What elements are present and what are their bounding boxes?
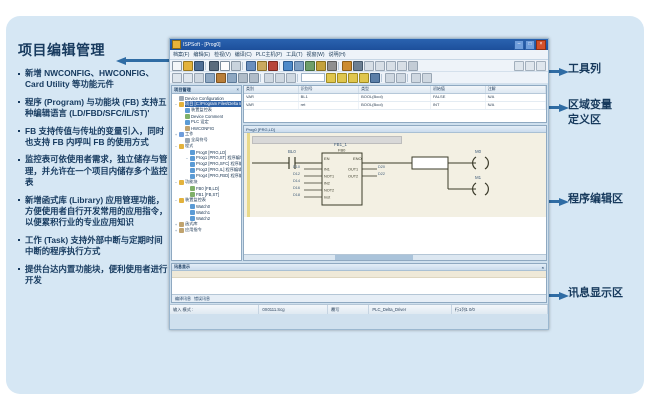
- menu-bar: 档案(F) 编辑(E) 检视(V) 编译(C) PLC主机(P) 工具(T) 视…: [170, 50, 548, 60]
- svg-text:Inst: Inst: [324, 196, 331, 200]
- rising-edge-icon[interactable]: [216, 73, 226, 83]
- window-title: ISPSoft - [Prog0]: [183, 42, 512, 48]
- menu-item-help[interactable]: 说明(H): [329, 51, 346, 58]
- program-editor-tab[interactable]: Prog0 [PRG,LD]: [244, 126, 546, 133]
- symbol-icon: [185, 138, 190, 143]
- library-folder-icon: [179, 222, 184, 227]
- project-tree-title: 项目管理: [174, 87, 191, 93]
- close-button[interactable]: ×: [536, 40, 546, 50]
- tree-toggle[interactable]: −: [174, 102, 178, 107]
- watch-folder-icon: [179, 198, 184, 203]
- comment-icon: [185, 114, 190, 119]
- close-icon[interactable]: ×: [542, 265, 544, 270]
- toolbar-row-1: [170, 60, 548, 72]
- tree-node-label: 功能块: [185, 179, 198, 185]
- program-editor-tab-label: Prog0 [PRG,LD]: [246, 127, 275, 132]
- svg-text:FB0: FB0: [338, 148, 346, 153]
- feature-text-block: 项目编辑管理 新增 NWCONFIG、HWCONFIG、Card Utility…: [18, 40, 168, 293]
- task-folder-icon: [179, 132, 184, 137]
- message-tabs: 编译讯息 错误讯息: [172, 294, 546, 302]
- cell-initial: FALSE: [431, 94, 486, 101]
- fb-ld-icon: [190, 186, 195, 191]
- callout-arrow-project-edit: [125, 57, 170, 64]
- variable-table-header: 类别 识别号 类型 初始值 注解: [244, 86, 546, 94]
- print-preview-icon[interactable]: [220, 61, 230, 71]
- block-compare-icon[interactable]: [348, 73, 358, 83]
- svg-text:ENO: ENO: [353, 156, 362, 161]
- status-cursor-position: 行1列1 0/0: [452, 305, 548, 314]
- inverse-coil-icon[interactable]: [205, 73, 215, 83]
- table-row[interactable]: VAR BL1 BOOL(Bool) FALSE N/A: [244, 94, 546, 102]
- tree-node-label: FB1 [FB,ST]: [196, 192, 219, 197]
- tree-node-label: Device Configuration: [185, 96, 224, 101]
- library-icon[interactable]: [422, 73, 432, 83]
- close-icon[interactable]: ×: [237, 87, 239, 92]
- message-panel-header: 讯息显示 ×: [172, 264, 546, 271]
- tree-toggle[interactable]: −: [174, 180, 178, 185]
- svg-text:D12: D12: [293, 172, 300, 176]
- cell-class: VAR: [244, 102, 299, 109]
- cell-comment: N/A: [486, 102, 546, 109]
- il-program-icon: [190, 168, 195, 173]
- zoom-out-icon[interactable]: [525, 61, 535, 71]
- contact-nc-icon[interactable]: [183, 73, 193, 83]
- tree-toggle[interactable]: −: [174, 144, 178, 149]
- download-icon[interactable]: [305, 61, 315, 71]
- menu-item-compile[interactable]: 编译(C): [235, 51, 252, 58]
- svg-text:D18: D18: [293, 193, 300, 197]
- status-input-mode: 输入 模式 :: [170, 305, 259, 314]
- tree-toggle[interactable]: −: [185, 156, 189, 161]
- zoom-in-icon[interactable]: [514, 61, 524, 71]
- program-folder-icon: [179, 144, 184, 149]
- block-counter-icon[interactable]: [370, 73, 380, 83]
- minimize-button[interactable]: –: [514, 40, 524, 50]
- monitor-table-icon: [185, 108, 190, 113]
- hwconfig-icon: [185, 126, 190, 131]
- tree-node-label: Watch1: [196, 210, 210, 215]
- screenshot-root: 项目编辑管理 新增 NWCONFIG、HWCONFIG、Card Utility…: [0, 0, 650, 405]
- feature-bullet: FB 支持传值与传址的变量引入，同时也支持 FB 内呼叫 FB 的使用方式: [18, 126, 168, 149]
- callout-label-toolbar: 工具列: [568, 62, 601, 76]
- ladder-logic-graphic: BL0 FB1_1 FB0 EN ENO: [244, 133, 546, 223]
- tree-node[interactable]: + 应用指令: [173, 227, 241, 233]
- tree-toggle[interactable]: −: [174, 198, 178, 203]
- work-area: 项目管理 × Device Configuration − 项目 [C:\Pro…: [170, 84, 548, 262]
- message-list[interactable]: [172, 278, 546, 294]
- column-header-type: 类型: [359, 86, 431, 93]
- callout-label-program-editor: 程序编辑区: [568, 192, 623, 206]
- window-controls: – □ ×: [514, 40, 546, 50]
- menu-item-window[interactable]: 视窗(W): [306, 51, 324, 58]
- undo-icon[interactable]: [268, 61, 278, 71]
- menu-item-edit[interactable]: 编辑(E): [193, 51, 210, 58]
- tree-toggle[interactable]: +: [174, 228, 178, 233]
- project-icon: [179, 102, 184, 107]
- grid-icon[interactable]: [397, 61, 407, 71]
- cell-initial: INT: [431, 102, 486, 109]
- table-row[interactable]: VAR ret BOOL(Bool) INT N/A: [244, 102, 546, 110]
- project-tree-panel: 项目管理 × Device Configuration − 项目 [C:\Pro…: [171, 85, 242, 261]
- svg-text:D14: D14: [293, 179, 300, 183]
- tree-node-label: Device Comment: [191, 114, 223, 119]
- title-bar: ISPSoft - [Prog0] – □ ×: [170, 39, 548, 50]
- feature-bullet-list: 新增 NWCONFIG、HWCONFIG、Card Utility 等功能元件 …: [18, 68, 168, 287]
- watch-table-icon: [190, 204, 195, 209]
- tab-compile-messages[interactable]: 编译讯息: [175, 296, 191, 302]
- menu-item-tools[interactable]: 工具(T): [286, 51, 302, 58]
- status-bar: 输入 模式 : 0X0111.Scg 覆写 PLC_Delta_Driver 行…: [170, 304, 548, 314]
- svg-text:M1: M1: [475, 175, 482, 180]
- insert-column-icon[interactable]: [275, 73, 285, 83]
- tab-error-messages[interactable]: 错误讯息: [194, 296, 210, 302]
- zoom-fit-icon[interactable]: [536, 61, 546, 71]
- compile-icon[interactable]: [294, 61, 304, 71]
- monitor-stop-icon[interactable]: [396, 73, 406, 83]
- cell-identifier: ret: [299, 102, 359, 109]
- run-icon[interactable]: [327, 61, 337, 71]
- network-icon[interactable]: [386, 61, 396, 71]
- watch-table-icon: [190, 216, 195, 221]
- svg-text:OUT2: OUT2: [348, 175, 358, 179]
- cell-type: BOOL(Bool): [359, 94, 431, 101]
- scrollbar-thumb[interactable]: [335, 255, 414, 260]
- menu-item-file[interactable]: 档案(F): [173, 51, 189, 58]
- insert-row-icon[interactable]: [264, 73, 274, 83]
- column-header-initial: 初始值: [431, 86, 486, 93]
- callout-label-variable-area-line2: 定义区: [568, 113, 601, 127]
- svg-text:IN1: IN1: [324, 168, 330, 172]
- tree-node-label: 装置监控表: [185, 197, 206, 203]
- copy-icon[interactable]: [246, 61, 256, 71]
- redo-icon[interactable]: [283, 61, 293, 71]
- tree-node-label: PLC 设定: [191, 119, 209, 125]
- monitor-icon[interactable]: [353, 61, 363, 71]
- program-editor-panel: Prog0 [PRG,LD] BL0: [243, 125, 547, 261]
- tree-node-label: 全局符号: [191, 137, 208, 143]
- monitor-start-icon[interactable]: [385, 73, 395, 83]
- svg-text:NOT2: NOT2: [324, 189, 334, 193]
- tree-node-label: Prog4 [PRG,FBD] 程序编辑: [196, 173, 241, 179]
- cut-icon[interactable]: [231, 61, 241, 71]
- save-icon[interactable]: [194, 61, 204, 71]
- st-program-icon: [190, 156, 195, 161]
- message-panel: 讯息显示 × 编译讯息 错误讯息: [171, 263, 547, 303]
- device-icon: [179, 96, 184, 101]
- feature-bullet: 程序 (Program) 与功能块 (FB) 支持五种编辑语言 (LD/FBD/…: [18, 97, 168, 120]
- svg-text:M0: M0: [475, 149, 482, 154]
- block-io-icon[interactable]: [337, 73, 347, 83]
- tree-node-label: Watch2: [196, 216, 210, 221]
- zoom-level-combo[interactable]: [301, 73, 325, 82]
- svg-text:EN: EN: [324, 156, 330, 161]
- svg-text:D20: D20: [378, 165, 385, 169]
- application-icon: [172, 40, 181, 49]
- svg-text:NOT1: NOT1: [324, 175, 334, 179]
- find-icon[interactable]: [364, 61, 374, 71]
- horizontal-scrollbar[interactable]: [244, 254, 546, 260]
- replace-icon[interactable]: [375, 61, 385, 71]
- vertical-line-icon[interactable]: [238, 73, 248, 83]
- upload-icon[interactable]: [316, 61, 326, 71]
- svg-text:IN2: IN2: [324, 182, 330, 186]
- menu-item-view[interactable]: 检视(V): [214, 51, 231, 58]
- message-panel-title: 讯息显示: [174, 264, 190, 270]
- status-scan-time: 0X0111.Scg: [259, 305, 328, 314]
- delete-network-icon[interactable]: [286, 73, 296, 83]
- svg-text:D10: D10: [293, 165, 300, 169]
- tree-node-label: Prog0 [PRG,LD]: [196, 150, 226, 155]
- block-icon[interactable]: [326, 73, 336, 83]
- tree-node-label: 应用指令: [185, 227, 202, 233]
- fb-folder-icon: [179, 180, 184, 185]
- fb-st-icon: [190, 192, 195, 197]
- feature-bullet: 新增函式库 (Library) 应用管理功能，方便使用者自行开发常用的应用指令，…: [18, 195, 168, 229]
- message-highlight-band: [172, 271, 546, 278]
- tree-toggle[interactable]: +: [174, 222, 178, 227]
- callout-label-message-area: 讯息显示区: [568, 286, 623, 300]
- tree-node-label: 程式: [185, 143, 193, 149]
- svg-text:D16: D16: [293, 186, 300, 190]
- falling-edge-icon[interactable]: [227, 73, 237, 83]
- ld-program-icon: [190, 150, 195, 155]
- menu-item-plc[interactable]: PLC主机(P): [256, 51, 282, 58]
- feature-bullet: 监控表可依使用者需求，独立储存与管理，并允许在一个项目内储存多个监控表: [18, 154, 168, 188]
- horizontal-line-icon[interactable]: [249, 73, 259, 83]
- coil-icon[interactable]: [194, 73, 204, 83]
- tree-node-label: Watch0: [196, 204, 210, 209]
- column-header-identifier: 识别号: [299, 86, 359, 93]
- cell-type: BOOL(Bool): [359, 102, 431, 109]
- symbol-table-icon[interactable]: [411, 73, 421, 83]
- cell-class: VAR: [244, 94, 299, 101]
- feature-bullet: 新增 NWCONFIG、HWCONFIG、Card Utility 等功能元件: [18, 68, 168, 91]
- project-tree[interactable]: Device Configuration − 项目 [C:\Program Fi…: [172, 94, 241, 260]
- api-folder-icon: [179, 228, 184, 233]
- cell-comment: N/A: [486, 94, 546, 101]
- block-timer-icon[interactable]: [359, 73, 369, 83]
- application-window: ISPSoft - [Prog0] – □ × 档案(F) 编辑(E) 检视(V…: [169, 38, 549, 330]
- contact-no-icon[interactable]: [172, 73, 182, 83]
- local-variable-table[interactable]: 类别 识别号 类型 初始值 注解 VAR BL1 BOOL(Bool) FALS…: [243, 85, 547, 123]
- editor-column: 类别 识别号 类型 初始值 注解 VAR BL1 BOOL(Bool) FALS…: [243, 85, 547, 261]
- comment-icon[interactable]: [408, 61, 418, 71]
- tree-node-label: FB0 [FB,LD]: [196, 186, 219, 191]
- watch-table-icon: [190, 210, 195, 215]
- fbd-program-icon: [190, 174, 195, 179]
- feature-bullet: 提供台达内置功能块，便利使用者进行开发: [18, 264, 168, 287]
- tree-node-label: 装置监控表: [191, 107, 212, 113]
- column-header-comment: 注解: [486, 86, 546, 93]
- maximize-button[interactable]: □: [525, 40, 535, 50]
- tree-node-label: HWCONFIG: [191, 126, 214, 131]
- svg-text:D22: D22: [378, 172, 385, 176]
- svg-text:BL0: BL0: [288, 149, 296, 154]
- print-icon[interactable]: [209, 61, 219, 71]
- callout-label-variable-area-line1: 区域变量: [568, 98, 612, 112]
- svg-text:FB1_1: FB1_1: [334, 142, 347, 147]
- feature-bullet: 工作 (Task) 支持外部中断与定期时间中断的程序执行方式: [18, 235, 168, 258]
- project-tree-header: 项目管理 ×: [172, 86, 241, 94]
- ladder-diagram-canvas[interactable]: BL0 FB1_1 FB0 EN ENO: [244, 133, 546, 260]
- column-header-class: 类别: [244, 86, 299, 93]
- paste-icon[interactable]: [257, 61, 267, 71]
- status-overwrite: 覆写: [328, 305, 369, 314]
- sfc-program-icon: [190, 162, 195, 167]
- new-icon[interactable]: [172, 61, 182, 71]
- svg-text:OUT1: OUT1: [348, 168, 358, 172]
- open-icon[interactable]: [183, 61, 193, 71]
- tree-toggle[interactable]: +: [174, 132, 178, 137]
- toolbar-row-2: [170, 72, 548, 84]
- status-driver: PLC_Delta_Driver: [369, 305, 451, 314]
- plc-setting-icon: [185, 120, 190, 125]
- cell-identifier: BL1: [299, 94, 359, 101]
- stop-icon[interactable]: [342, 61, 352, 71]
